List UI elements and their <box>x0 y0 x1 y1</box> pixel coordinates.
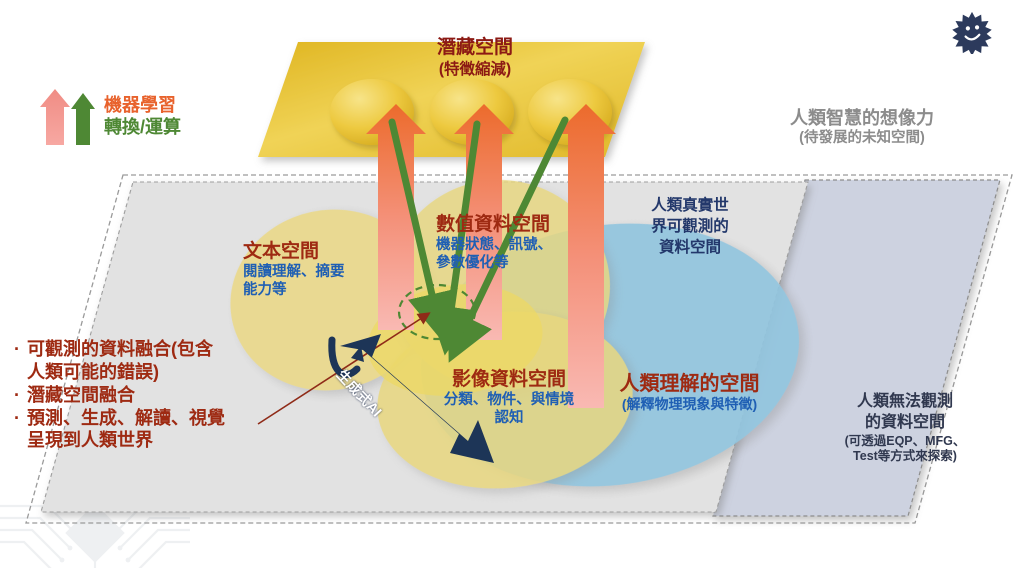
green-up-arrow-icon <box>71 93 95 145</box>
bullet-marker: · <box>14 338 20 384</box>
image-data-space-label-block: 影像資料空間 分類、物件、與情境 認知 <box>424 368 594 427</box>
unobservable-subtitle-line2: Test等方式來探索) <box>805 449 1005 465</box>
latent-node <box>330 79 414 145</box>
real-world-label-block: 人類真實世 界可觀測的 資料空間 <box>620 196 760 259</box>
latent-space-subtitle: (特徵縮減) <box>355 60 595 79</box>
latent-space-title: 潛藏空間 <box>355 36 595 60</box>
list-item: · 可觀測的資料融合(包含 人類可能的錯誤) <box>14 338 324 384</box>
numeric-data-space-title: 數值資料空間 <box>436 213 552 236</box>
imagination-label-block: 人類智慧的想像力 (待發展的未知空間) <box>742 108 982 148</box>
bullet-line1: 預測、生成、解讀、視覺 <box>27 408 225 428</box>
list-item: · 預測、生成、解讀、視覺 呈現到人類世界 <box>14 407 324 453</box>
legend-arrow-icons <box>38 85 96 147</box>
bullet-text: 預測、生成、解讀、視覺 呈現到人類世界 <box>27 407 324 453</box>
list-item: · 潛藏空間融合 <box>14 384 324 407</box>
text-space-sub-line2: 能力等 <box>243 281 345 299</box>
image-data-space-sub-line1: 分類、物件、與情境 <box>424 391 594 409</box>
pink-up-arrow-icon <box>40 89 70 145</box>
numeric-data-space-label-block: 數值資料空間 機器狀態、訊號、 參數優化等 <box>436 213 552 272</box>
unobservable-title-line1: 人類無法觀測 <box>805 392 1005 413</box>
text-space-sub-line1: 閱讀理解、摘要 <box>243 263 345 281</box>
numeric-data-space-sub-line2: 參數優化等 <box>436 254 552 272</box>
legend-label-machine-learning: 機器學習 <box>104 94 181 117</box>
slide-canvas: 機器學習 轉換/運算 潛藏空間 (特徵縮減) 人類智慧的想像力 (待發展的未知空… <box>0 0 1024 568</box>
real-world-label-line2: 界可觀測的 <box>620 217 760 238</box>
legend-label-transform: 轉換/運算 <box>104 116 181 139</box>
bullet-line2: 人類可能的錯誤) <box>27 362 159 382</box>
bullet-line1: 可觀測的資料融合(包含 <box>27 339 213 359</box>
human-understanding-title: 人類理解的空間 <box>597 372 782 396</box>
bullet-marker: · <box>14 384 20 407</box>
latent-space-title-block: 潛藏空間 (特徵縮減) <box>355 36 595 79</box>
human-understanding-label-block: 人類理解的空間 (解釋物理現象與特徵) <box>597 372 782 413</box>
text-space-title: 文本空間 <box>243 240 345 263</box>
unobservable-label-block: 人類無法觀測 的資料空間 (可透過EQP、MFG、 Test等方式來探索) <box>805 392 1005 465</box>
latent-node <box>430 79 514 145</box>
bullet-line2: 呈現到人類世界 <box>27 430 153 450</box>
image-data-space-sub-line2: 認知 <box>424 409 594 427</box>
text-space-label-block: 文本空間 閱讀理解、摘要 能力等 <box>243 240 345 299</box>
latent-node <box>528 79 612 145</box>
bullet-list: · 可觀測的資料融合(包含 人類可能的錯誤) · 潛藏空間融合 · 預測、生成、… <box>14 338 324 452</box>
image-data-space-title: 影像資料空間 <box>424 368 594 391</box>
bullet-text: 可觀測的資料融合(包含 人類可能的錯誤) <box>27 338 324 384</box>
numeric-data-space-sub-line1: 機器狀態、訊號、 <box>436 236 552 254</box>
bullet-line1: 潛藏空間融合 <box>27 385 135 405</box>
human-understanding-sub-line1: (解釋物理現象與特徵) <box>597 396 782 413</box>
unobservable-subtitle-line1: (可透過EQP、MFG、 <box>805 434 1005 450</box>
real-world-label-line3: 資料空間 <box>620 238 760 259</box>
imagination-subtitle: (待發展的未知空間) <box>742 130 982 148</box>
bullet-text: 潛藏空間融合 <box>27 384 324 407</box>
imagination-title: 人類智慧的想像力 <box>742 108 982 130</box>
unobservable-title-line2: 的資料空間 <box>805 413 1005 434</box>
legend: 機器學習 轉換/運算 <box>38 85 181 147</box>
bullet-marker: · <box>14 407 20 453</box>
real-world-label-line1: 人類真實世 <box>620 196 760 217</box>
